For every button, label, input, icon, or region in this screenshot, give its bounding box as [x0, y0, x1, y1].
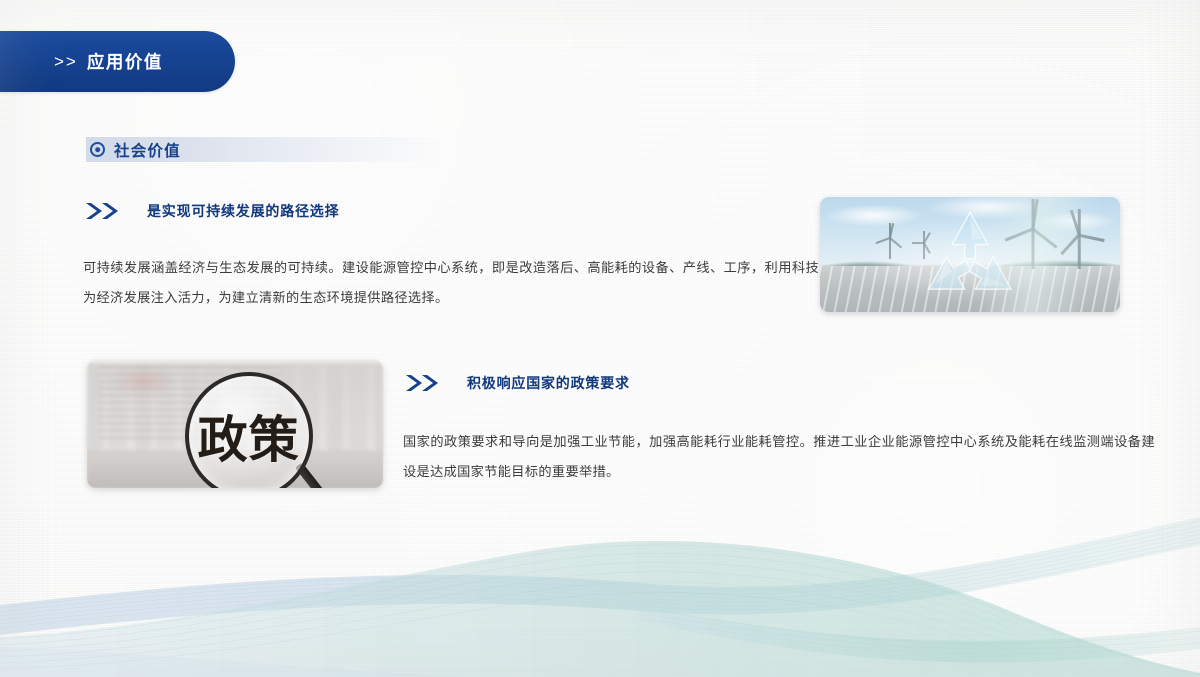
- target-ring-icon: [90, 142, 105, 157]
- page-vignette: [0, 0, 1200, 677]
- slide-title-tab: >> 应用价值: [0, 31, 235, 92]
- double-chevron-icon: >>: [54, 53, 78, 70]
- subsection-heading-2-label: 积极响应国家的政策要求: [467, 373, 630, 393]
- decorative-wave-graphic: [0, 487, 1200, 677]
- section-header-label: 社会价值: [114, 139, 181, 161]
- policy-magnifier-image: 政策: [87, 360, 383, 488]
- image-glow-overlay: [820, 197, 1120, 312]
- subsection-heading-1: 是实现可持续发展的路径选择: [85, 201, 339, 221]
- subsection-body-2: 国家的政策要求和导向是加强工业节能，加强高能耗行业能耗管控。推进工业企业能源管控…: [403, 427, 1155, 487]
- image-color-tint-layer: [111, 365, 176, 398]
- subsection-heading-1-label: 是实现可持续发展的路径选择: [147, 201, 339, 221]
- section-header: 社会价值: [86, 137, 441, 162]
- double-chevron-icon: [85, 201, 125, 221]
- eco-recycling-image: [820, 197, 1120, 312]
- subsection-heading-2: 积极响应国家的政策要求: [405, 373, 630, 393]
- slide-title-text: 应用价值: [87, 49, 163, 74]
- background-texture: [0, 0, 1200, 677]
- double-chevron-icon: [405, 373, 445, 393]
- subsection-body-1: 可持续发展涵盖经济与生态发展的可持续。建设能源管控中心系统，即是改造落后、高能耗…: [83, 253, 819, 313]
- policy-image-text: 政策: [185, 372, 313, 488]
